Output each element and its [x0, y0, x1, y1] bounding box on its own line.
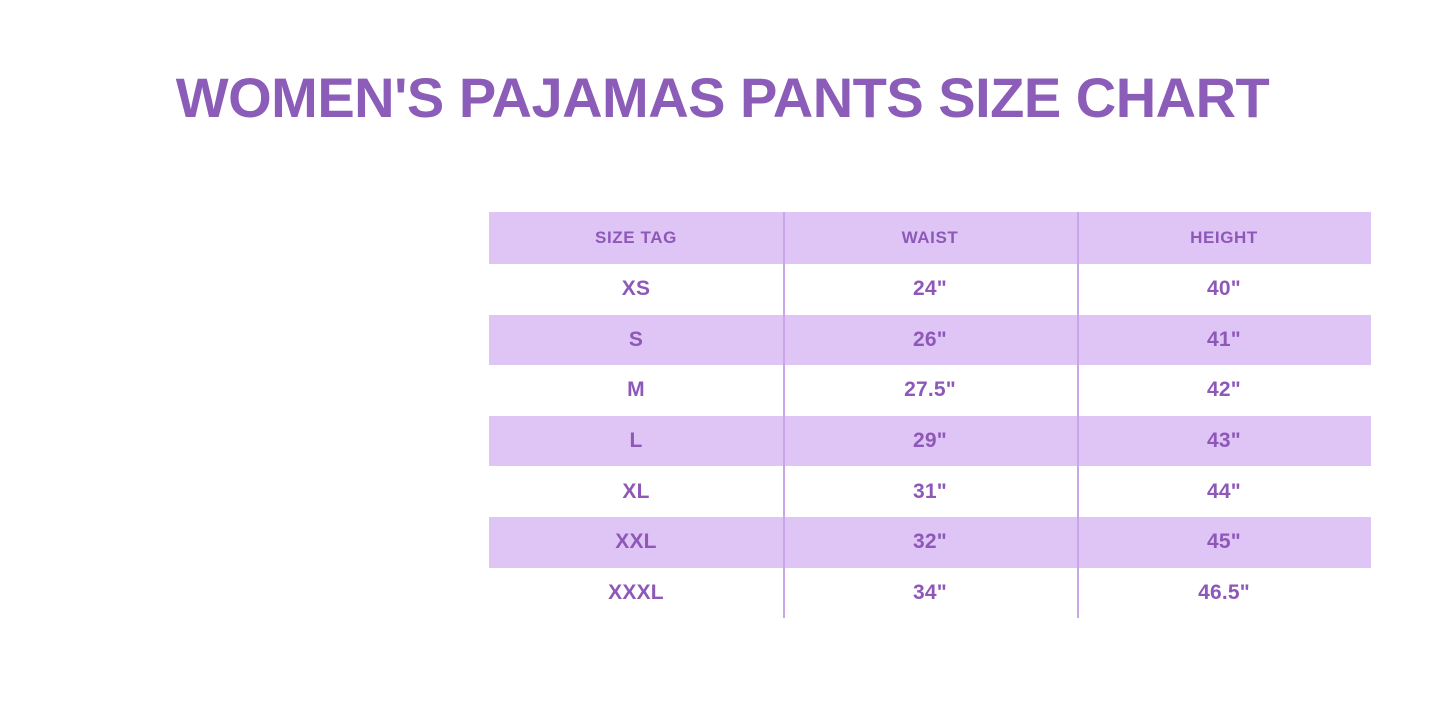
cell-height: 41"	[1077, 315, 1371, 366]
cell-size-tag: XS	[489, 264, 783, 315]
table-row: XXL 32" 45"	[489, 517, 1371, 568]
table-row: XXXL 34" 46.5"	[489, 568, 1371, 619]
table-row: M 27.5" 42"	[489, 365, 1371, 416]
cell-waist: 27.5"	[783, 365, 1077, 416]
cell-height: 40"	[1077, 264, 1371, 315]
cell-waist: 32"	[783, 517, 1077, 568]
cell-waist: 29"	[783, 416, 1077, 467]
cell-size-tag: XL	[489, 466, 783, 517]
cell-height: 44"	[1077, 466, 1371, 517]
page-title: WOMEN'S PAJAMAS PANTS SIZE CHART	[0, 68, 1445, 128]
cell-waist: 34"	[783, 568, 1077, 619]
table-row: XL 31" 44"	[489, 466, 1371, 517]
column-divider-second	[1077, 212, 1079, 618]
cell-waist: 31"	[783, 466, 1077, 517]
size-chart-table-container: SIZE TAG WAIST HEIGHT XS 24" 40" S 26" 4…	[489, 212, 1371, 618]
table-header: SIZE TAG WAIST HEIGHT	[489, 212, 1371, 264]
cell-waist: 26"	[783, 315, 1077, 366]
table-row: L 29" 43"	[489, 416, 1371, 467]
size-chart-table: SIZE TAG WAIST HEIGHT XS 24" 40" S 26" 4…	[489, 212, 1371, 618]
column-header-waist: WAIST	[783, 212, 1077, 264]
cell-size-tag: XXL	[489, 517, 783, 568]
cell-size-tag: L	[489, 416, 783, 467]
cell-height: 46.5"	[1077, 568, 1371, 619]
table-row: S 26" 41"	[489, 315, 1371, 366]
column-header-size-tag: SIZE TAG	[489, 212, 783, 264]
cell-height: 45"	[1077, 517, 1371, 568]
cell-waist: 24"	[783, 264, 1077, 315]
column-divider-first	[783, 212, 785, 618]
cell-height: 43"	[1077, 416, 1371, 467]
column-header-height: HEIGHT	[1077, 212, 1371, 264]
table-body: XS 24" 40" S 26" 41" M 27.5" 42" L 29"	[489, 264, 1371, 618]
cell-size-tag: S	[489, 315, 783, 366]
table-header-row: SIZE TAG WAIST HEIGHT	[489, 212, 1371, 264]
cell-height: 42"	[1077, 365, 1371, 416]
size-chart-page: WOMEN'S PAJAMAS PANTS SIZE CHART SIZE TA…	[0, 0, 1445, 723]
cell-size-tag: M	[489, 365, 783, 416]
table-row: XS 24" 40"	[489, 264, 1371, 315]
cell-size-tag: XXXL	[489, 568, 783, 619]
